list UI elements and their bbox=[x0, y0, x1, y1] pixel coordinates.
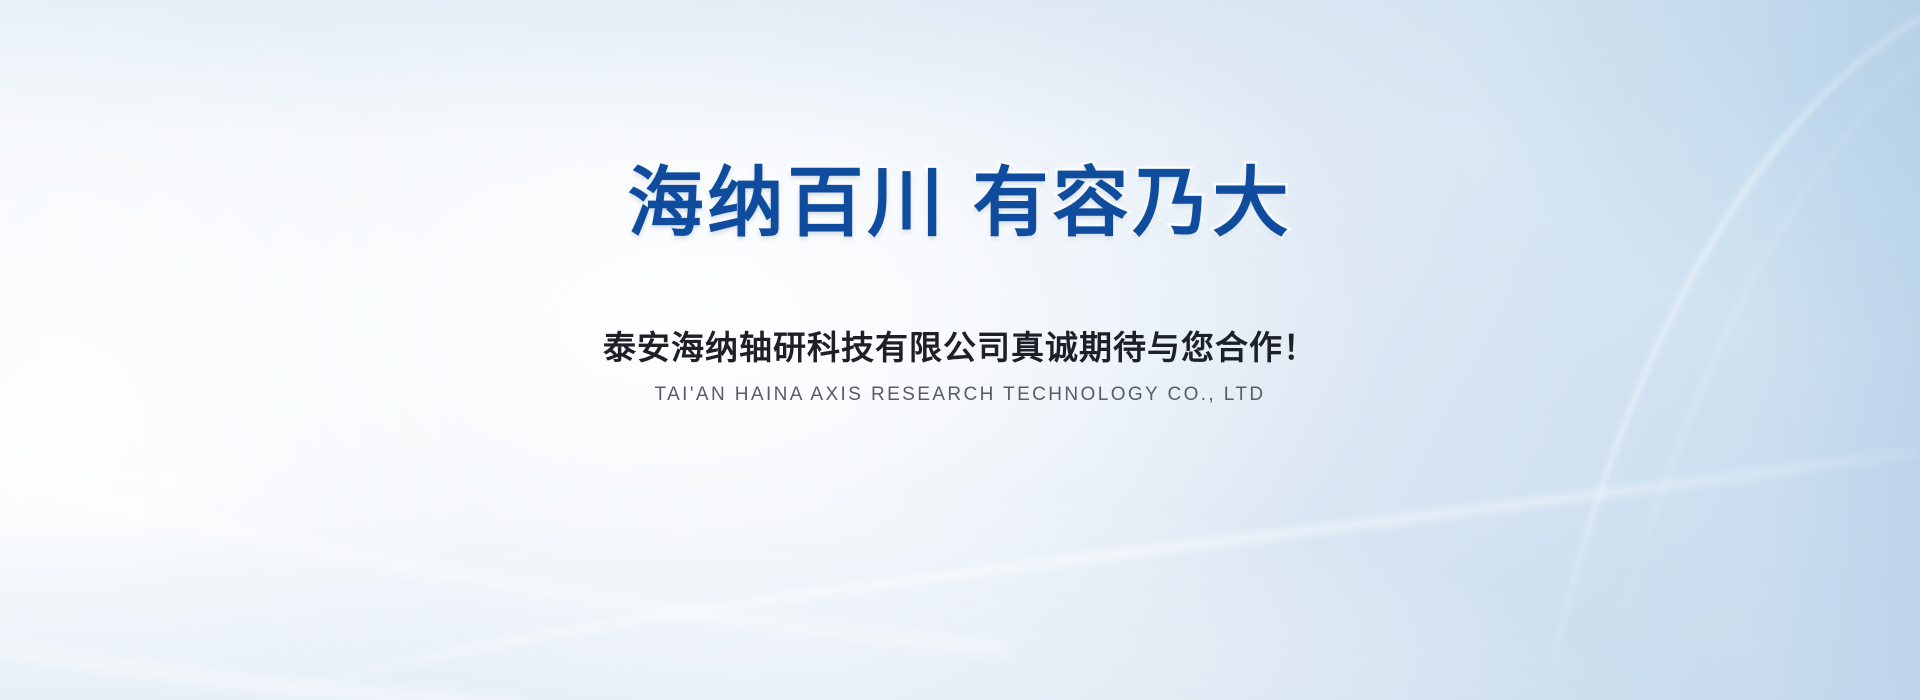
banner-subtitle-chinese: 泰安海纳轴研科技有限公司真诚期待与您合作！ bbox=[603, 328, 1317, 368]
hero-banner: 海纳百川 有容乃大 泰安海纳轴研科技有限公司真诚期待与您合作！ TAI'AN H… bbox=[0, 0, 1920, 700]
banner-headline: 海纳百川 有容乃大 bbox=[627, 166, 1292, 242]
banner-content: 海纳百川 有容乃大 泰安海纳轴研科技有限公司真诚期待与您合作！ TAI'AN H… bbox=[0, 0, 1920, 700]
banner-subtitle-english: TAI'AN HAINA AXIS RESEARCH TECHNOLOGY CO… bbox=[655, 384, 1266, 407]
